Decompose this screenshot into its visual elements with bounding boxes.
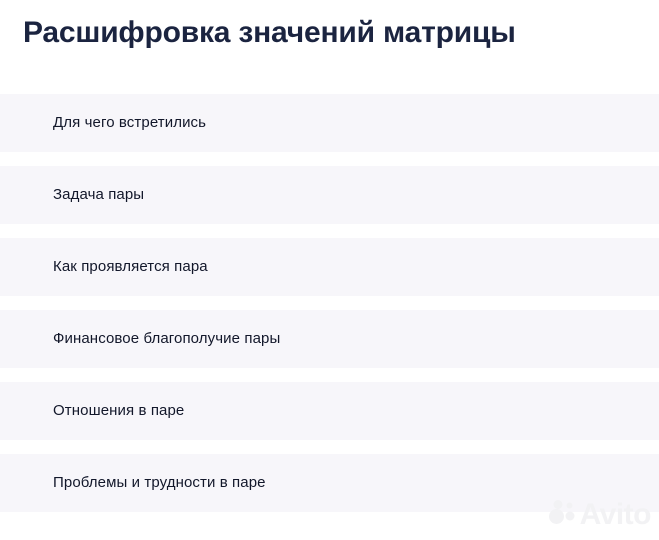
page-title: Расшифровка значений матрицы [23, 12, 643, 54]
list-item-label: Для чего встретились [53, 113, 206, 133]
list-item-label: Как проявляется пара [53, 257, 208, 277]
list-item[interactable]: Финансовое благополучие пары [0, 310, 659, 368]
list-item[interactable]: Проблемы и трудности в паре [0, 454, 659, 512]
list-item-label: Отношения в паре [53, 401, 184, 421]
list-item[interactable]: Как проявляется пара [0, 238, 659, 296]
list-item[interactable]: Отношения в паре [0, 382, 659, 440]
list-item-label: Задача пары [53, 185, 144, 205]
list-item[interactable]: Задача пары [0, 166, 659, 224]
page-root: Расшифровка значений матрицы Для чего вс… [0, 0, 659, 540]
list-item-label: Проблемы и трудности в паре [53, 473, 266, 493]
list-item[interactable]: Для чего встретились [0, 94, 659, 152]
list-item-label: Финансовое благополучие пары [53, 329, 280, 349]
matrix-meanings-list: Для чего встретились Задача пары Как про… [0, 94, 659, 512]
